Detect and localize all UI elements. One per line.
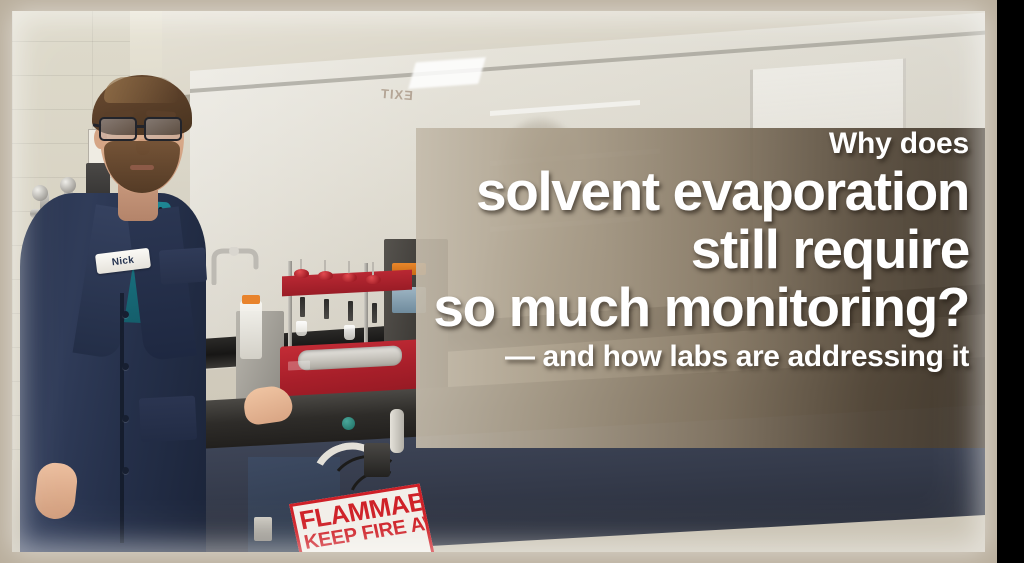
coat-chest-pocket (159, 247, 207, 284)
headline-line-3: so much monitoring? (404, 278, 969, 336)
headline-line-1: solvent evaporation (404, 162, 969, 220)
name-badge-label: Nick (111, 254, 135, 268)
coat-button (122, 363, 129, 370)
hair-highlight (104, 77, 178, 103)
safety-glasses-icon (96, 117, 188, 143)
title-card-stage: EXIT (0, 0, 1024, 563)
coat-button (122, 415, 129, 422)
headline-block: Why does solvent evaporation still requi… (404, 126, 985, 378)
right-black-gutter (997, 0, 1024, 563)
mouth (130, 165, 154, 170)
lab-technician: Nick (12, 11, 432, 552)
coat-button (122, 311, 129, 318)
headline-subtitle: — and how labs are addressing it (404, 336, 969, 378)
headline-line-2: still require (404, 220, 969, 278)
safety-glasses-lens-left (99, 117, 137, 141)
coat-button (122, 467, 129, 474)
hand-on-bench (242, 384, 295, 426)
safety-glasses-lens-right (144, 117, 182, 141)
headline-kicker: Why does (404, 126, 969, 162)
safety-glasses-bridge (137, 125, 145, 128)
coat-side-pocket (139, 396, 197, 443)
